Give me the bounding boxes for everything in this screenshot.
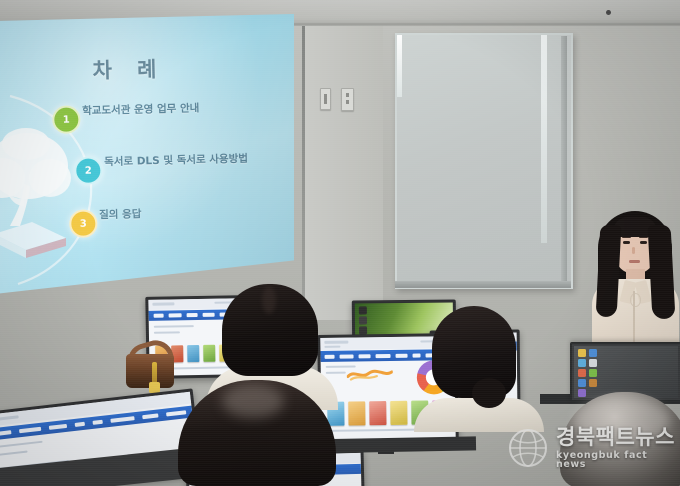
chart-squiggle-icon bbox=[347, 367, 393, 382]
wall-switch-plate-b[interactable] bbox=[341, 88, 354, 111]
bag-chain bbox=[152, 362, 157, 384]
presenter-neck-tie bbox=[630, 293, 641, 307]
projection-screen: 차 례 1 학교도서관 운영 업무 안내 2 독서로 DLS 및 독서로 사용방… bbox=[0, 14, 304, 300]
watermark-text: 경북팩트뉴스 kyeongbuk fact news bbox=[556, 427, 676, 470]
slide-shading bbox=[0, 14, 294, 294]
watermark: 경북팩트뉴스 kyeongbuk fact news bbox=[506, 420, 676, 476]
globe-icon bbox=[506, 426, 550, 470]
presenter bbox=[586, 205, 680, 365]
presenter-nose bbox=[632, 247, 635, 254]
watermark-korean: 경북팩트뉴스 bbox=[556, 427, 676, 448]
attendee-low-bun-knot bbox=[472, 378, 506, 408]
leather-bag bbox=[120, 340, 180, 390]
podium-screen bbox=[574, 346, 678, 398]
whiteboard-tray bbox=[395, 281, 571, 288]
attendee-long-hair-sheen bbox=[222, 384, 284, 418]
presenter-eye-left bbox=[623, 241, 630, 244]
attendee-bob-cut-part bbox=[262, 286, 276, 314]
whiteboard-frame-right bbox=[561, 36, 567, 284]
attendee-low-bun bbox=[432, 306, 524, 424]
whiteboard-highlight-right bbox=[541, 35, 547, 243]
wall-switch-plate-a[interactable] bbox=[320, 88, 331, 110]
ceiling-sensor-icon bbox=[606, 10, 611, 15]
presenter-eye-right bbox=[640, 241, 647, 244]
photo-scene: 차 례 1 학교도서관 운영 업무 안내 2 독서로 DLS 및 독서로 사용방… bbox=[0, 0, 680, 486]
presenter-hair-right bbox=[648, 224, 676, 319]
whiteboard-highlight-left bbox=[397, 35, 402, 97]
attendee-long-hair bbox=[178, 380, 336, 486]
wall-column bbox=[305, 20, 383, 320]
watermark-english: kyeongbuk fact news bbox=[556, 451, 676, 470]
presenter-mouth bbox=[629, 260, 640, 263]
